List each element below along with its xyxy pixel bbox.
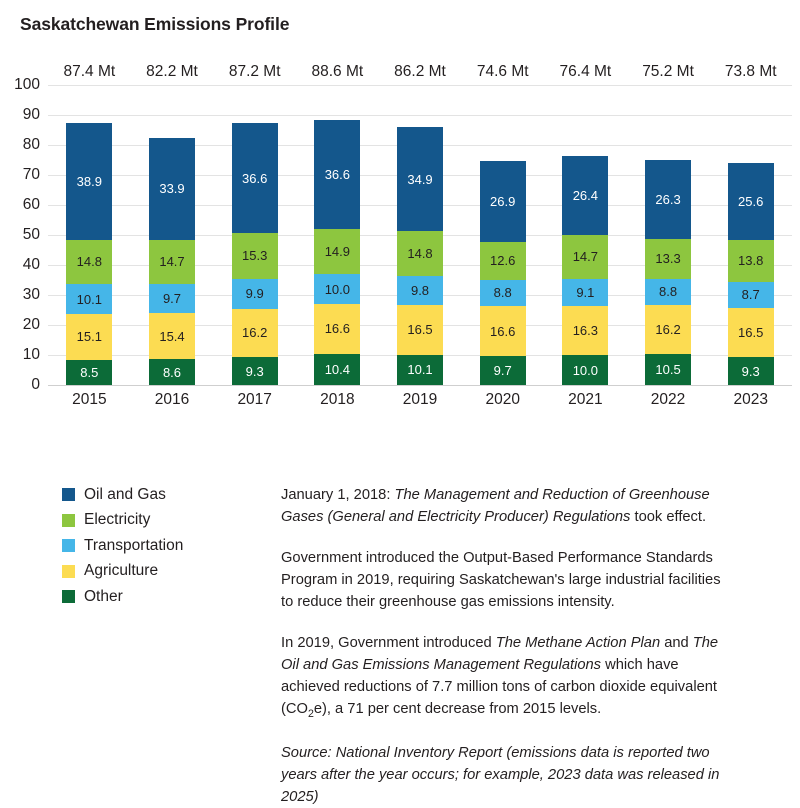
bar-segment-electricity[interactable]: 14.7	[562, 235, 608, 279]
legend-item-label: Agriculture	[84, 562, 158, 580]
legend-item-electricity[interactable]: Electricity	[62, 508, 262, 534]
legend-item-transportation[interactable]: Transportation	[62, 533, 262, 559]
x-axis-tick-2020: 2020	[461, 391, 544, 409]
bar-segment-electricity[interactable]: 12.6	[480, 242, 526, 280]
note1-lead: January 1, 2018:	[281, 487, 395, 503]
note1-tail: took effect.	[630, 509, 706, 525]
bar-column: 76.4 Mt26.414.79.116.310.0	[544, 85, 627, 385]
bar-total-label: 86.2 Mt	[379, 63, 462, 81]
x-axis-tick-2016: 2016	[131, 391, 214, 409]
bar-segment-other[interactable]: 9.3	[728, 357, 774, 385]
bar-stack: 26.313.38.816.210.5	[645, 160, 691, 385]
bar-segment-value: 13.8	[738, 254, 763, 267]
bar-segment-agriculture[interactable]: 16.5	[397, 305, 443, 355]
bar-segment-value: 15.4	[159, 330, 184, 343]
bar-total-label: 76.4 Mt	[544, 63, 627, 81]
bar-segment-value: 26.4	[573, 189, 598, 202]
bar-segment-other[interactable]: 10.5	[645, 354, 691, 386]
page-title: Saskatchewan Emissions Profile	[20, 14, 289, 35]
bar-segment-value: 10.0	[573, 364, 598, 377]
bar-total-label: 88.6 Mt	[296, 63, 379, 81]
bar-segment-other[interactable]: 10.1	[397, 355, 443, 385]
bar-column: 87.4 Mt38.914.810.115.18.5	[48, 85, 131, 385]
bar-segment-electricity[interactable]: 14.8	[66, 240, 112, 284]
bar-segment-oil-and-gas[interactable]: 26.3	[645, 160, 691, 239]
y-axis-tick: 30	[23, 286, 40, 304]
y-axis-tick: 80	[23, 136, 40, 154]
bar-segment-value: 13.3	[655, 252, 680, 265]
bar-total-label: 74.6 Mt	[461, 63, 544, 81]
bar-total-label: 75.2 Mt	[627, 63, 710, 81]
bar-segment-transportation[interactable]: 8.8	[645, 279, 691, 305]
y-axis-tick: 70	[23, 166, 40, 184]
bar-total-label: 82.2 Mt	[131, 63, 214, 81]
emissions-stacked-bar-chart: 0102030405060708090100 87.4 Mt38.914.810…	[0, 85, 800, 425]
bar-segment-transportation[interactable]: 8.7	[728, 282, 774, 308]
bar-segment-value: 10.1	[77, 293, 102, 306]
x-axis-tick-2018: 2018	[296, 391, 379, 409]
note3-mid: and	[660, 635, 693, 651]
legend-swatch-icon	[62, 539, 75, 552]
bar-segment-transportation[interactable]: 9.9	[232, 279, 278, 309]
bar-segment-value: 8.6	[163, 366, 181, 379]
bar-segment-value: 9.1	[576, 286, 594, 299]
bar-segment-value: 16.2	[655, 323, 680, 336]
bar-segment-value: 38.9	[77, 175, 102, 188]
bar-segment-electricity[interactable]: 15.3	[232, 233, 278, 279]
legend-item-label: Oil and Gas	[84, 486, 166, 504]
bar-stack: 26.414.79.116.310.0	[562, 156, 608, 385]
legend-item-label: Transportation	[84, 537, 183, 555]
bar-segment-value: 8.7	[742, 288, 760, 301]
gridline	[48, 385, 792, 386]
bar-segment-value: 16.3	[573, 324, 598, 337]
bar-segment-oil-and-gas[interactable]: 25.6	[728, 163, 774, 240]
notes-column: January 1, 2018: The Management and Redu…	[281, 484, 736, 808]
bar-segment-transportation[interactable]: 9.7	[149, 284, 195, 313]
bar-segment-value: 36.6	[242, 172, 267, 185]
bar-segment-transportation[interactable]: 8.8	[480, 280, 526, 306]
bar-segment-value: 9.3	[742, 365, 760, 378]
x-axis-tick-2022: 2022	[627, 391, 710, 409]
bar-segment-agriculture[interactable]: 15.4	[149, 313, 195, 359]
bar-segment-value: 16.2	[242, 326, 267, 339]
bar-segment-other[interactable]: 8.6	[149, 359, 195, 385]
bar-segment-agriculture[interactable]: 16.6	[480, 306, 526, 356]
bar-segment-oil-and-gas[interactable]: 36.6	[232, 123, 278, 233]
bar-column: 74.6 Mt26.912.68.816.69.7	[461, 85, 544, 385]
source-note: Source: National Inventory Report (emiss…	[281, 742, 736, 808]
note-methane-action-plan: In 2019, Government introduced The Metha…	[281, 632, 736, 723]
bar-segment-value: 16.6	[490, 325, 515, 338]
x-axis-tick-2015: 2015	[48, 391, 131, 409]
bar-column: 75.2 Mt26.313.38.816.210.5	[627, 85, 710, 385]
bar-column: 86.2 Mt34.914.89.816.510.1	[379, 85, 462, 385]
legend-swatch-icon	[62, 565, 75, 578]
bar-segment-value: 14.9	[325, 245, 350, 258]
bar-segment-value: 25.6	[738, 195, 763, 208]
chart-legend: Oil and GasElectricityTransportationAgri…	[62, 482, 262, 610]
bar-group: 87.4 Mt38.914.810.115.18.582.2 Mt33.914.…	[48, 85, 792, 385]
legend-item-agriculture[interactable]: Agriculture	[62, 559, 262, 585]
bar-segment-agriculture[interactable]: 16.3	[562, 306, 608, 355]
note-regulations-2018: January 1, 2018: The Management and Redu…	[281, 484, 736, 528]
y-axis-tick: 60	[23, 196, 40, 214]
bar-segment-oil-and-gas[interactable]: 38.9	[66, 123, 112, 240]
bar-segment-oil-and-gas[interactable]: 26.4	[562, 156, 608, 235]
y-axis-tick: 20	[23, 316, 40, 334]
bar-segment-other[interactable]: 10.4	[314, 354, 360, 385]
bar-segment-value: 26.3	[655, 193, 680, 206]
bar-segment-value: 16.5	[407, 323, 432, 336]
bar-segment-value: 8.8	[494, 286, 512, 299]
y-axis-tick: 100	[14, 76, 40, 94]
bar-stack: 36.615.39.916.29.3	[232, 123, 278, 385]
bar-segment-oil-and-gas[interactable]: 36.6	[314, 120, 360, 230]
bar-segment-other[interactable]: 10.0	[562, 355, 608, 385]
bar-segment-value: 10.4	[325, 363, 350, 376]
bar-column: 73.8 Mt25.613.88.716.59.3	[709, 85, 792, 385]
bar-column: 87.2 Mt36.615.39.916.29.3	[213, 85, 296, 385]
bar-segment-transportation[interactable]: 9.8	[397, 276, 443, 305]
bar-segment-electricity[interactable]: 14.9	[314, 229, 360, 274]
x-axis: 201520162017201820192020202120222023	[48, 391, 792, 409]
plot-area: 87.4 Mt38.914.810.115.18.582.2 Mt33.914.…	[48, 85, 792, 385]
bar-segment-value: 16.6	[325, 322, 350, 335]
bar-segment-value: 9.3	[246, 365, 264, 378]
bar-stack: 26.912.68.816.69.7	[480, 161, 526, 385]
bar-segment-agriculture[interactable]: 16.6	[314, 304, 360, 354]
bar-segment-value: 9.7	[163, 292, 181, 305]
bar-segment-other[interactable]: 9.7	[480, 356, 526, 385]
note3-italic-title-1: The Methane Action Plan	[496, 635, 660, 651]
bar-segment-other[interactable]: 9.3	[232, 357, 278, 385]
bar-segment-electricity[interactable]: 14.7	[149, 240, 195, 284]
bar-segment-oil-and-gas[interactable]: 33.9	[149, 138, 195, 240]
bar-segment-electricity[interactable]: 13.3	[645, 239, 691, 279]
bar-segment-transportation[interactable]: 10.0	[314, 274, 360, 304]
bar-stack: 25.613.88.716.59.3	[728, 163, 774, 385]
legend-swatch-icon	[62, 590, 75, 603]
legend-item-oil-and-gas[interactable]: Oil and Gas	[62, 482, 262, 508]
bar-segment-value: 34.9	[407, 173, 432, 186]
bar-segment-transportation[interactable]: 9.1	[562, 279, 608, 306]
note-obps-program: Government introduced the Output-Based P…	[281, 547, 736, 613]
x-axis-tick-2023: 2023	[709, 391, 792, 409]
bar-segment-agriculture[interactable]: 15.1	[66, 314, 112, 359]
bar-column: 88.6 Mt36.614.910.016.610.4	[296, 85, 379, 385]
bar-stack: 36.614.910.016.610.4	[314, 120, 360, 385]
bar-segment-value: 36.6	[325, 168, 350, 181]
bar-segment-oil-and-gas[interactable]: 26.9	[480, 161, 526, 242]
bar-segment-value: 26.9	[490, 195, 515, 208]
y-axis-tick: 40	[23, 256, 40, 274]
bar-segment-value: 12.6	[490, 254, 515, 267]
bar-segment-agriculture[interactable]: 16.2	[232, 309, 278, 358]
bar-stack: 34.914.89.816.510.1	[397, 127, 443, 385]
y-axis-tick: 50	[23, 226, 40, 244]
note3-lead: In 2019, Government introduced	[281, 635, 496, 651]
bar-segment-oil-and-gas[interactable]: 34.9	[397, 127, 443, 232]
bar-segment-other[interactable]: 8.5	[66, 360, 112, 386]
bar-total-label: 87.2 Mt	[213, 63, 296, 81]
x-axis-tick-2021: 2021	[544, 391, 627, 409]
bar-segment-value: 8.8	[659, 285, 677, 298]
bar-segment-electricity[interactable]: 13.8	[728, 240, 774, 281]
x-axis-tick-2019: 2019	[379, 391, 462, 409]
bar-segment-transportation[interactable]: 10.1	[66, 284, 112, 314]
bar-stack: 38.914.810.115.18.5	[66, 123, 112, 385]
legend-swatch-icon	[62, 488, 75, 501]
legend-item-other[interactable]: Other	[62, 584, 262, 610]
bar-segment-value: 14.7	[159, 255, 184, 268]
bar-total-label: 87.4 Mt	[48, 63, 131, 81]
bar-segment-value: 10.1	[407, 363, 432, 376]
bar-segment-electricity[interactable]: 14.8	[397, 231, 443, 275]
bar-segment-value: 9.7	[494, 364, 512, 377]
bar-segment-value: 14.7	[573, 250, 598, 263]
bar-segment-value: 9.8	[411, 284, 429, 297]
bar-segment-value: 15.3	[242, 249, 267, 262]
bar-segment-value: 15.1	[77, 330, 102, 343]
note3-tail-b: e), a 71 per cent decrease from 2015 lev…	[314, 701, 601, 717]
bar-segment-value: 14.8	[407, 247, 432, 260]
y-axis: 0102030405060708090100	[0, 85, 48, 385]
bar-segment-value: 14.8	[77, 255, 102, 268]
bar-segment-value: 10.5	[655, 363, 680, 376]
bar-segment-value: 9.9	[246, 287, 264, 300]
y-axis-tick: 10	[23, 346, 40, 364]
legend-item-label: Electricity	[84, 511, 150, 529]
bar-segment-value: 8.5	[80, 366, 98, 379]
bar-segment-agriculture[interactable]: 16.2	[645, 305, 691, 354]
bar-segment-value: 10.0	[325, 283, 350, 296]
x-axis-tick-2017: 2017	[213, 391, 296, 409]
bar-segment-value: 33.9	[159, 182, 184, 195]
bar-total-label: 73.8 Mt	[709, 63, 792, 81]
legend-item-label: Other	[84, 588, 123, 606]
bar-segment-agriculture[interactable]: 16.5	[728, 308, 774, 358]
legend-swatch-icon	[62, 514, 75, 527]
bar-column: 82.2 Mt33.914.79.715.48.6	[131, 85, 214, 385]
y-axis-tick: 0	[31, 376, 40, 394]
y-axis-tick: 90	[23, 106, 40, 124]
bar-segment-value: 16.5	[738, 326, 763, 339]
bar-stack: 33.914.79.715.48.6	[149, 138, 195, 385]
